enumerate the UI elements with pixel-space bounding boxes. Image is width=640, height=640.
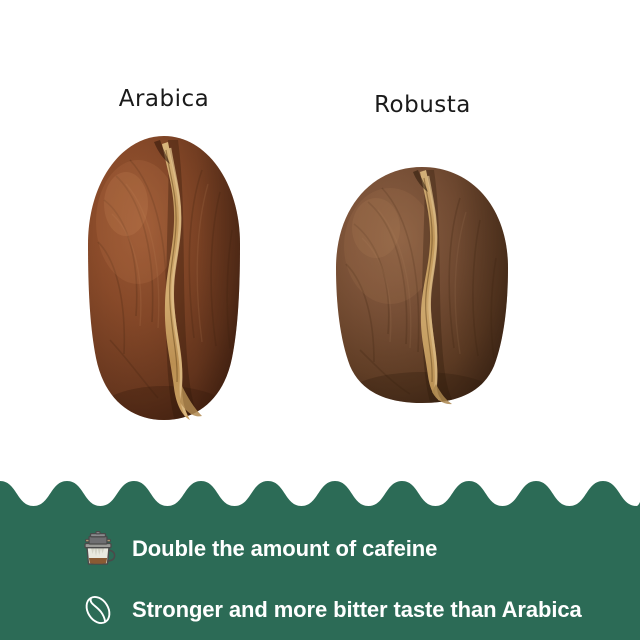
fact-item-caffeine: Double the amount of cafeine	[78, 529, 437, 569]
phin-coffee-filter-icon	[78, 529, 118, 569]
fact-item-taste: Stronger and more bitter taste than Arab…	[78, 590, 582, 630]
coffee-bean-robusta-icon	[330, 162, 514, 408]
bean-comparison-area: Arabica Robusta	[0, 0, 640, 480]
bean-label-arabica: Arabica	[88, 86, 240, 112]
facts-list: Double the amount of cafeine Stronger an…	[0, 470, 640, 640]
coffee-bean-outline-icon	[78, 590, 118, 630]
bean-label-robusta: Robusta	[337, 92, 508, 118]
coffee-bean-infographic: Arabica Robusta	[0, 0, 640, 640]
green-facts-panel: Double the amount of cafeine Stronger an…	[0, 470, 640, 640]
fact-text-caffeine: Double the amount of cafeine	[132, 538, 437, 560]
fact-text-taste: Stronger and more bitter taste than Arab…	[132, 599, 582, 621]
coffee-bean-arabica-icon	[82, 130, 246, 426]
